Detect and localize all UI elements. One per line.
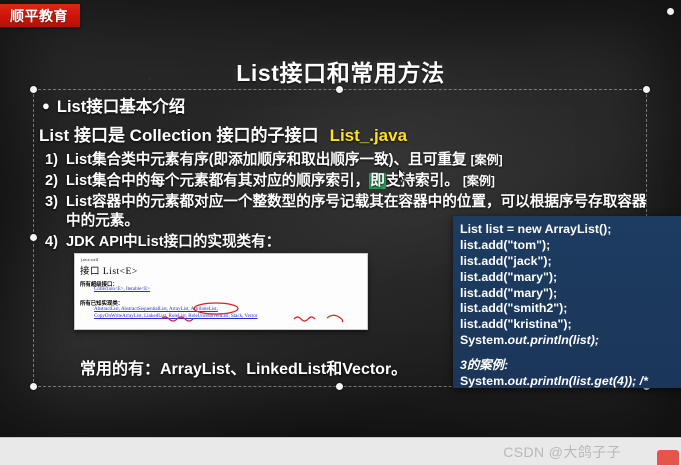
code-case-line: System.out.println(list.get(4)); /* xyxy=(460,374,681,388)
code-blank-line xyxy=(460,349,681,358)
javadoc-implementors-line-2: CopyOnWriteArrayList, LinkedList, RoleLi… xyxy=(94,314,258,319)
list-item: 1) List集合类中元素有序(即添加顺序和取出顺序一致)、且可重复 [案例] xyxy=(38,151,650,170)
footer-bar: CSDN @大鸽子子 xyxy=(0,437,681,465)
javadoc-superinterfaces: Collection<E>, Iterable<E> xyxy=(94,287,150,292)
subtitle-file-link[interactable]: List_.java xyxy=(330,126,408,145)
brand-label: 顺平教育 xyxy=(0,6,68,26)
usual-classes-line: 常用的有：ArrayList、LinkedList和Vector。 xyxy=(80,355,407,379)
subtitle-text: List 接口是 Collection 接口的子接口 xyxy=(39,126,319,145)
case-tag: [案例] xyxy=(463,174,495,188)
list-item-number: 3) xyxy=(38,193,58,212)
footer-red-chip-icon[interactable] xyxy=(657,450,679,465)
list-item-number: 4) xyxy=(38,233,58,252)
code-line: list.add("jack"); xyxy=(460,254,681,270)
code-line: list.add("tom"); xyxy=(460,238,681,254)
slide-title: List接口和常用方法 xyxy=(0,54,681,88)
csdn-watermark: CSDN @大鸽子子 xyxy=(503,442,621,462)
code-line: list.add("mary"); xyxy=(460,286,681,302)
javadoc-implementors-label: 所有已知实现类： xyxy=(80,299,123,307)
bullet-heading-label: List接口基本介绍 xyxy=(57,93,185,117)
list-item-text: List集合中的每个元素都有其对应的顺序索引，即支持索引。 [案例] xyxy=(66,172,650,191)
code-snippet-panel: List list = new ArrayList(); list.add("t… xyxy=(453,216,681,388)
code-system-prefix: System. xyxy=(460,333,508,347)
list-item-number: 1) xyxy=(38,151,58,170)
list-item: 2) List集合中的每个元素都有其对应的顺序索引，即支持索引。 [案例] xyxy=(38,172,650,191)
code-line-println: System.out.println(list); xyxy=(460,333,681,349)
list-item-text: List集合类中元素有序(即添加顺序和取出顺序一致)、且可重复 [案例] xyxy=(66,151,650,170)
case-tag: [案例] xyxy=(471,153,503,167)
code-line: list.add("smith2"); xyxy=(460,301,681,317)
resize-handle-middle-left[interactable] xyxy=(30,234,37,241)
javadoc-screenshot: java.util 接口 List<E> 所有超级接口： Collection<… xyxy=(74,253,368,330)
code-case-italic: out.println(list.get(4)); /* xyxy=(508,374,648,388)
code-line: list.add("kristina"); xyxy=(460,317,681,333)
mouse-cursor-icon xyxy=(398,168,407,182)
brand-banner: 顺平教育 xyxy=(0,4,80,27)
code-system-italic: out.println(list); xyxy=(508,333,600,347)
code-line: list.add("mary"); xyxy=(460,270,681,286)
code-case-prefix: System. xyxy=(460,374,508,388)
code-case-label: 3的案例: xyxy=(460,358,681,374)
bullet-heading: ● List接口基本介绍 xyxy=(42,93,650,117)
bullet-dot-icon: ● xyxy=(42,99,50,112)
subtitle-line: List 接口是 Collection 接口的子接口List_.java xyxy=(39,121,650,146)
code-panel-handle[interactable] xyxy=(667,8,674,15)
javadoc-package: java.util xyxy=(81,257,99,262)
selected-character[interactable]: 即 xyxy=(369,173,386,189)
javadoc-interface-title: 接口 List<E> xyxy=(80,263,138,277)
resize-handle-bottom-left[interactable] xyxy=(30,383,37,390)
code-line: List list = new ArrayList(); xyxy=(460,222,681,238)
javadoc-implementors-line-1: AbstractList, AbstractSequentialList, Ar… xyxy=(94,307,218,312)
list-item-number: 2) xyxy=(38,172,58,191)
presentation-slide: 顺平教育 List接口和常用方法 ● List接口基本介绍 List 接口是 C… xyxy=(0,0,681,437)
